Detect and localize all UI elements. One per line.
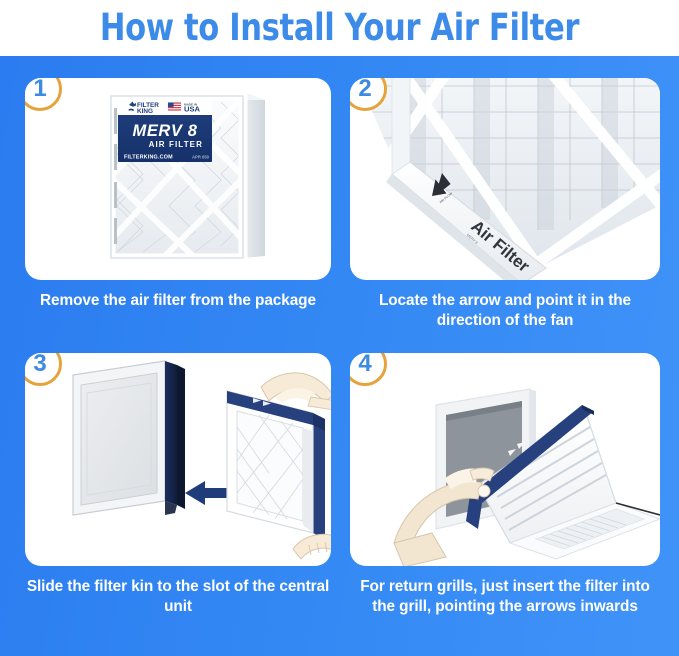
svg-text:AIR FILTER: AIR FILTER [149, 140, 203, 149]
filter-edge-with-airflow-arrow: AIR FLOW Air Filter MERV 8 [350, 78, 660, 280]
svg-text:FILTERKING.COM: FILTERKING.COM [124, 155, 173, 161]
step-1-caption: Remove the air filter from the package [25, 291, 331, 311]
blue-background: FILTER KING [0, 56, 679, 656]
svg-text:KING: KING [137, 108, 153, 115]
infographic-root: How to Install Your Air Filter [0, 0, 679, 656]
step-3-number: 3 [33, 353, 46, 376]
step-1-number: 1 [33, 78, 46, 101]
step-3-caption: Slide the filter kin to the slot of the … [25, 577, 331, 617]
step-3: 3 Slide the filter kin to the slot of th… [25, 353, 331, 617]
step-4-card: 4 [350, 353, 660, 566]
step-1: FILTER KING [25, 78, 331, 311]
svg-text:MERV 8: MERV 8 [132, 122, 197, 140]
step-2-number: 2 [358, 78, 371, 101]
step-4: 4 For return grills, just insert the fil… [350, 353, 660, 617]
hand-lower [293, 534, 331, 559]
step-4-number: 4 [358, 353, 371, 376]
step-3-card: 3 [25, 353, 331, 566]
page-title: How to Install Your Air Filter [100, 8, 579, 48]
step-4-caption: For return grills, just insert the filte… [350, 577, 660, 617]
steps-grid: FILTER KING [0, 56, 679, 656]
step-1-card: FILTER KING [25, 78, 331, 280]
filter-inserted-into-ceiling-return-grill-illustration [350, 353, 660, 566]
filter-sliding-into-central-unit-illustration [25, 353, 331, 566]
step-2: AIR FLOW Air Filter MERV 8 2 Locate the … [350, 78, 660, 331]
step-2-caption: Locate the arrow and point it in the dir… [350, 291, 660, 331]
svg-text:APR 650: APR 650 [192, 155, 210, 160]
direction-arrow-icon [185, 481, 231, 505]
svg-text:USA: USA [184, 105, 201, 114]
air-filter-product-photo: FILTER KING [25, 78, 331, 280]
step-2-card: AIR FLOW Air Filter MERV 8 2 [350, 78, 660, 280]
title-band: How to Install Your Air Filter [0, 0, 679, 56]
